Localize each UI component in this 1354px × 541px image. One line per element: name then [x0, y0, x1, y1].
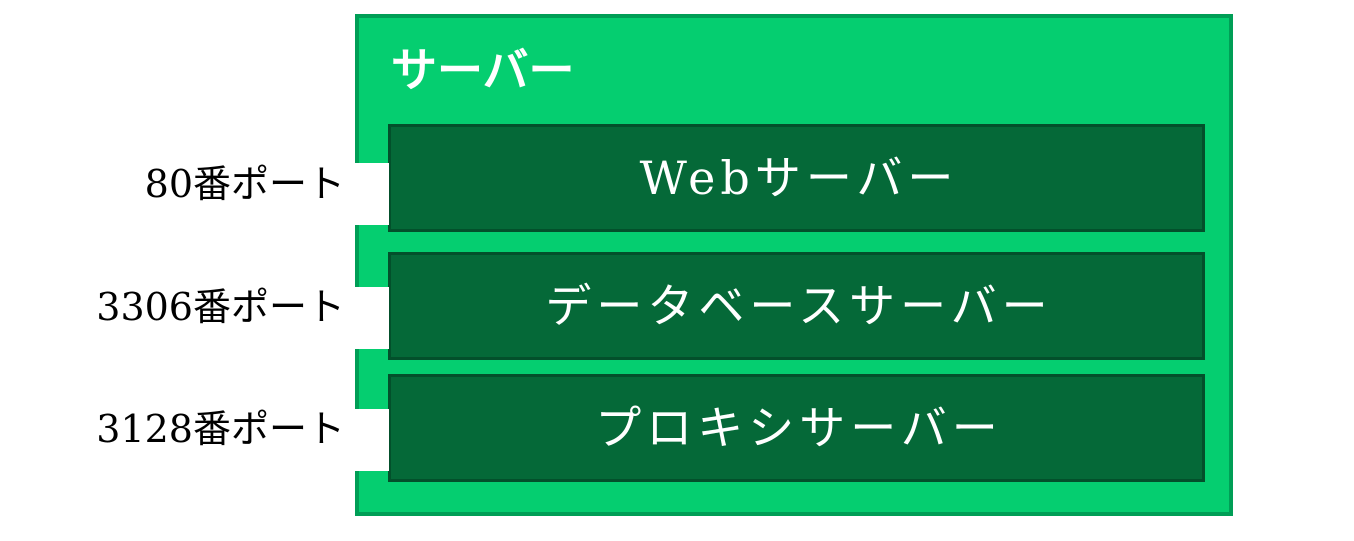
service-box-web-server: Webサーバー — [388, 124, 1205, 232]
port-notch-database-server — [355, 287, 389, 349]
diagram-canvas: サーバー Webサーバー データベースサーバー プロキシサーバー 80番ポート … — [0, 0, 1354, 541]
port-label-proxy-server: 3128番ポート — [96, 408, 345, 450]
port-label-web-server: 80番ポート — [145, 163, 345, 205]
port-label-database-server: 3306番ポート — [96, 286, 345, 328]
service-box-database-server: データベースサーバー — [388, 252, 1205, 360]
port-notch-proxy-server — [355, 409, 389, 471]
service-label: データベースサーバー — [540, 281, 1052, 331]
service-box-proxy-server: プロキシサーバー — [388, 374, 1205, 482]
server-title: サーバー — [391, 44, 575, 96]
service-label: プロキシサーバー — [590, 403, 1003, 453]
port-notch-web-server — [355, 163, 389, 225]
service-label: Webサーバー — [635, 153, 959, 203]
